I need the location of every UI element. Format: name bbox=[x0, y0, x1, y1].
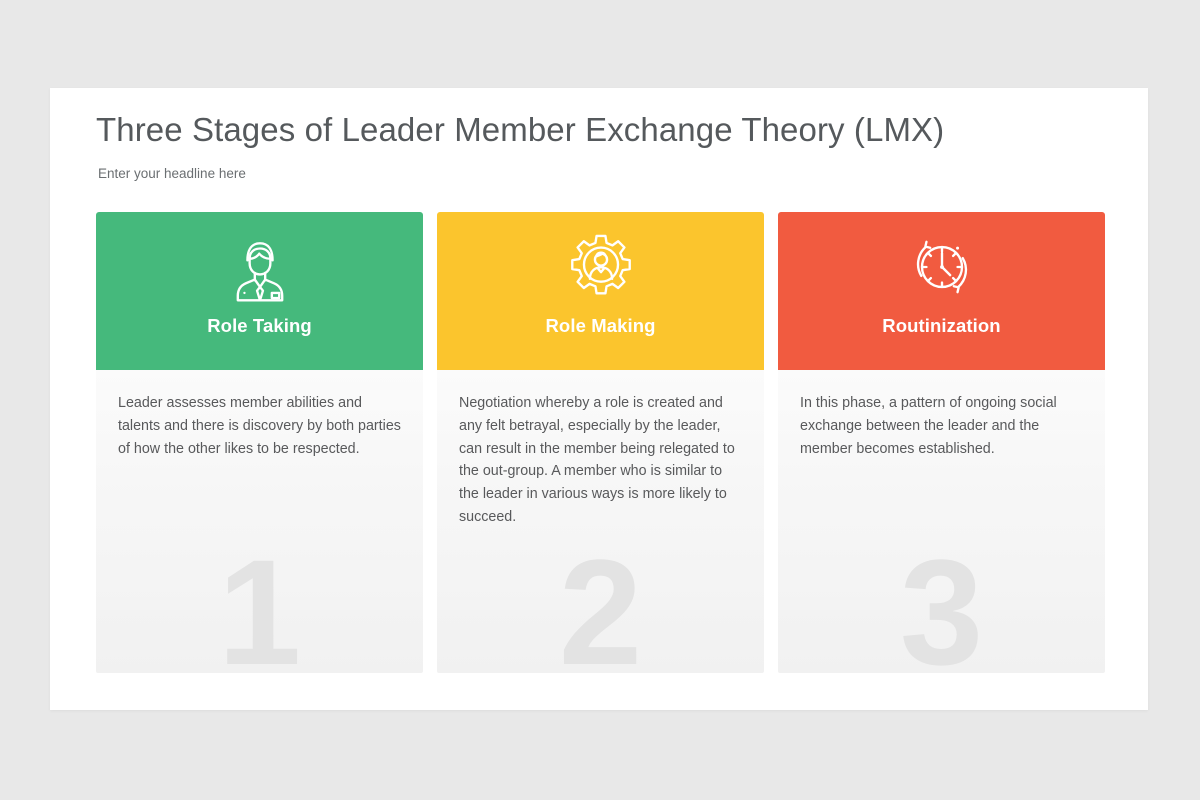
businessman-icon bbox=[223, 230, 297, 304]
stage-card-1[interactable]: Role Taking Leader assesses member abili… bbox=[96, 212, 423, 673]
gear-person-icon bbox=[564, 230, 638, 304]
stage-card-1-text: Leader assesses member abilities and tal… bbox=[118, 392, 401, 460]
clock-refresh-icon bbox=[905, 230, 979, 304]
stage-card-list: Role Taking Leader assesses member abili… bbox=[96, 212, 1106, 673]
stage-card-2-title: Role Making bbox=[545, 315, 655, 337]
stage-card-3-title: Routinization bbox=[882, 315, 1000, 337]
stage-card-2-body: Negotiation whereby a role is created an… bbox=[437, 370, 764, 673]
stage-card-2-header: Role Making bbox=[437, 212, 764, 370]
stage-card-2-text: Negotiation whereby a role is created an… bbox=[459, 392, 742, 529]
stage-card-3-number: 3 bbox=[778, 537, 1105, 673]
stage-card-2-number: 2 bbox=[437, 537, 764, 673]
stage-card-2[interactable]: Role Making Negotiation whereby a role i… bbox=[437, 212, 764, 673]
stage-card-1-number: 1 bbox=[96, 537, 423, 673]
stage-card-3-header: Routinization bbox=[778, 212, 1105, 370]
stage-card-1-header: Role Taking bbox=[96, 212, 423, 370]
slide-canvas: Three Stages of Leader Member Exchange T… bbox=[50, 88, 1148, 710]
slide-header: Three Stages of Leader Member Exchange T… bbox=[96, 110, 1106, 181]
page-subtitle: Enter your headline here bbox=[98, 166, 1106, 181]
stage-card-1-body: Leader assesses member abilities and tal… bbox=[96, 370, 423, 673]
stage-card-3-body: In this phase, a pattern of ongoing soci… bbox=[778, 370, 1105, 673]
stage-card-1-title: Role Taking bbox=[207, 315, 312, 337]
stage-card-3-text: In this phase, a pattern of ongoing soci… bbox=[800, 392, 1083, 460]
stage-card-3[interactable]: Routinization In this phase, a pattern o… bbox=[778, 212, 1105, 673]
page-title: Three Stages of Leader Member Exchange T… bbox=[96, 110, 1106, 150]
